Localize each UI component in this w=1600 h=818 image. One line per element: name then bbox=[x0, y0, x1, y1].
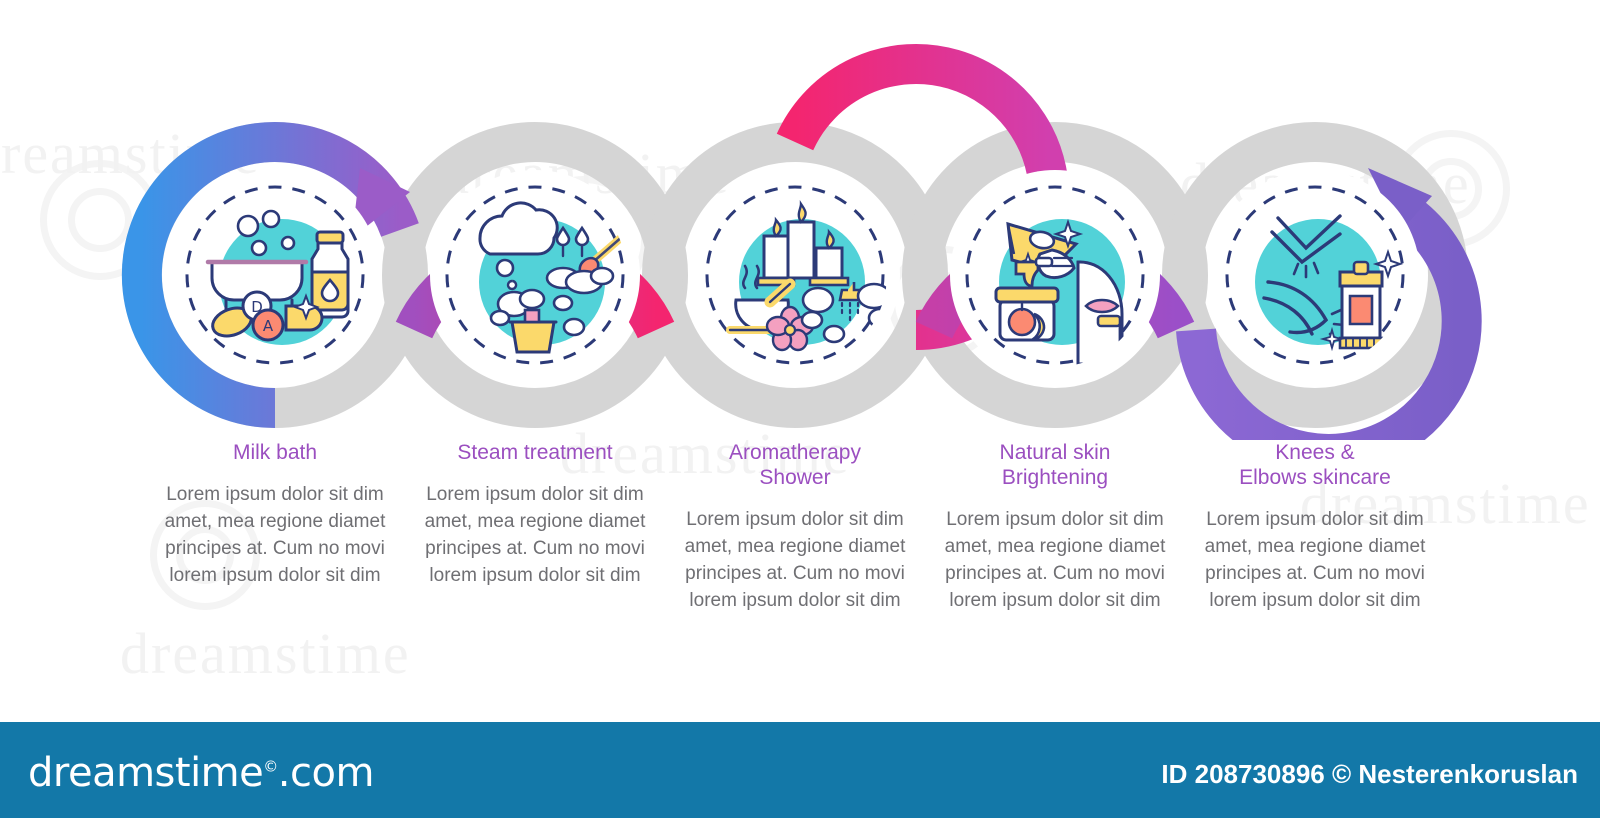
step-caption-1: Milk bath Lorem ipsum dolor sit dim amet… bbox=[145, 440, 405, 660]
infographic-body: D A bbox=[0, 0, 1600, 714]
dreamstime-logo[interactable]: dreamstime©.com bbox=[28, 750, 374, 796]
step-body-5: Lorem ipsum dolor sit dim amet, mea regi… bbox=[1185, 506, 1445, 614]
step-title-5: Knees & Elbows skincare bbox=[1185, 440, 1445, 490]
step-title-3: Aromatherapy Shower bbox=[665, 440, 925, 490]
brand-name: dreamstime bbox=[28, 750, 263, 796]
step-body-2: Lorem ipsum dolor sit dim amet, mea regi… bbox=[405, 481, 665, 589]
brand-suffix: .com bbox=[278, 750, 374, 796]
step-body-3: Lorem ipsum dolor sit dim amet, mea regi… bbox=[665, 506, 925, 614]
step-title-4: Natural skin Brightening bbox=[925, 440, 1185, 490]
step-title-2: Steam treatment bbox=[405, 440, 665, 465]
step-caption-4: Natural skin Brightening Lorem ipsum dol… bbox=[925, 440, 1185, 660]
step-body-4: Lorem ipsum dolor sit dim amet, mea regi… bbox=[925, 506, 1185, 614]
step-body-1: Lorem ipsum dolor sit dim amet, mea regi… bbox=[145, 481, 405, 589]
ribbon-chain: D A bbox=[0, 0, 1600, 440]
step-caption-2: Steam treatment Lorem ipsum dolor sit di… bbox=[405, 440, 665, 660]
step-title-1: Milk bath bbox=[145, 440, 405, 465]
captions-row: Milk bath Lorem ipsum dolor sit dim amet… bbox=[0, 440, 1600, 660]
step-caption-5: Knees & Elbows skincare Lorem ipsum dolo… bbox=[1185, 440, 1445, 660]
svg-text:A: A bbox=[263, 317, 274, 335]
registered-icon: © bbox=[263, 758, 278, 776]
image-credit: ID 208730896 © Nesterenkoruslan bbox=[1161, 759, 1578, 790]
step-caption-3: Aromatherapy Shower Lorem ipsum dolor si… bbox=[665, 440, 925, 660]
footer-bar: dreamstime©.com ID 208730896 © Nesterenk… bbox=[0, 722, 1600, 818]
